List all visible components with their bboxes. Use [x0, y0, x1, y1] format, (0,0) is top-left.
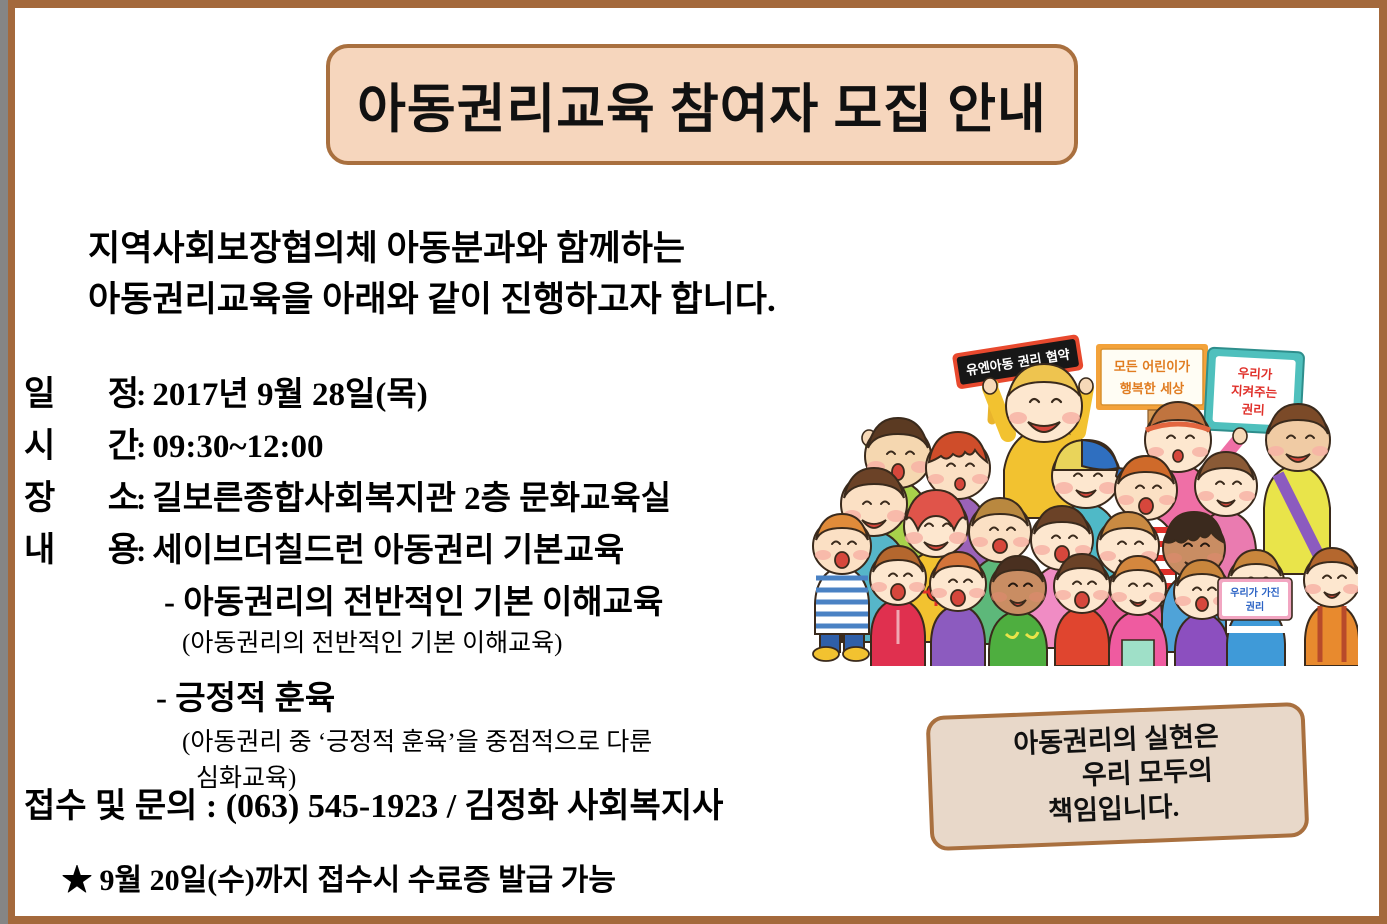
svg-text:모든 어린이가: 모든 어린이가: [1114, 359, 1190, 375]
detail-value-venue: 길보른종합사회복지관 2층 문화교육실: [152, 471, 671, 519]
svg-text:우리가 가진: 우리가 가진: [1230, 586, 1279, 599]
intro-paragraph: 지역사회보장협의체 아동분과와 함께하는 아동권리교육을 아래와 같이 진행하고…: [88, 224, 776, 326]
detail-label-venue: 장 소: [24, 470, 136, 519]
detail-value-content: 세이브더칠드런 아동권리 기본교육: [152, 523, 624, 571]
detail-colon-content: :: [136, 533, 146, 569]
event-details-list: 일 정 : 2017년 9월 28일(목) 시 간 : 09:30~12:00 …: [24, 366, 671, 797]
sub-item-2-bullet: - 긍정적 훈육: [156, 671, 671, 719]
frame-border-right: [1379, 0, 1387, 924]
svg-text:지켜주는: 지켜주는: [1231, 383, 1278, 400]
frame-border-top: [0, 0, 1387, 8]
svg-text:우리가: 우리가: [1237, 365, 1273, 382]
detail-row-date: 일 정 : 2017년 9월 28일(목): [24, 366, 671, 415]
detail-colon-time: :: [136, 429, 146, 465]
svg-text:권리: 권리: [1246, 600, 1264, 613]
detail-row-content: 내 용 : 세이브더칠드런 아동권리 기본교육: [24, 522, 671, 571]
detail-label-time: 시 간: [24, 418, 136, 467]
sub-item-2-note-line-1: (아동권리 중 ‘긍정적 훈육’을 중점적으로 다룬: [182, 729, 652, 756]
page-title: 아동권리교육 참여자 모집 안내: [357, 67, 1047, 143]
detail-value-date: 2017년 9월 28일(목): [152, 367, 427, 415]
footnote-line: ★ 9월 20일(수)까지 접수시 수료증 발급 가능: [62, 855, 616, 899]
left-edge-strip: [0, 0, 8, 924]
intro-line-1: 지역사회보장협의체 아동분과와 함께하는: [88, 224, 776, 275]
detail-label-date: 일 정: [24, 366, 136, 415]
contact-line: 접수 및 문의 : (063) 545-1923 / 김정화 사회복지사: [24, 778, 723, 827]
title-banner: 아동권리교육 참여자 모집 안내: [326, 44, 1078, 165]
child-right-yellow-sash: [1264, 404, 1330, 574]
intro-line-2: 아동권리교육을 아래와 같이 진행하고자 합니다.: [88, 275, 776, 326]
sub-item-1-bullet: - 아동권리의 전반적인 기본 이해교육: [164, 575, 671, 623]
sub-item-1-note: (아동권리의 전반적인 기본 이해교육): [182, 628, 671, 661]
detail-colon-venue: :: [136, 481, 146, 517]
detail-label-content: 내 용: [24, 522, 136, 571]
detail-row-venue: 장 소 : 길보른종합사회복지관 2층 문화교육실: [24, 470, 671, 519]
detail-colon-date: :: [136, 377, 146, 413]
slogan-box: 아동권리의 실현은 우리 모두의 책임입니다.: [926, 702, 1310, 851]
frame-border-left: [8, 0, 15, 924]
poster-canvas: 아동권리교육 참여자 모집 안내 지역사회보장협의체 아동분과와 함께하는 아동…: [0, 0, 1387, 924]
detail-row-time: 시 간 : 09:30~12:00: [24, 418, 671, 467]
svg-text:행복한 세상: 행복한 세상: [1120, 381, 1184, 397]
frame-border-bottom: [0, 916, 1387, 924]
svg-text:권리: 권리: [1241, 401, 1265, 417]
detail-value-time: 09:30~12:00: [152, 429, 323, 466]
sign-rights-we-have: 우리가 가진 권리: [1218, 578, 1292, 620]
children-crowd-illustration: 유엔아동 권리 협약 모든 어린이가 행복한 세상 우리가 지켜주는 권리: [786, 334, 1358, 666]
child-suspenders-front: [1304, 548, 1358, 666]
slogan-line-3: 책임입니다.: [941, 785, 1287, 832]
